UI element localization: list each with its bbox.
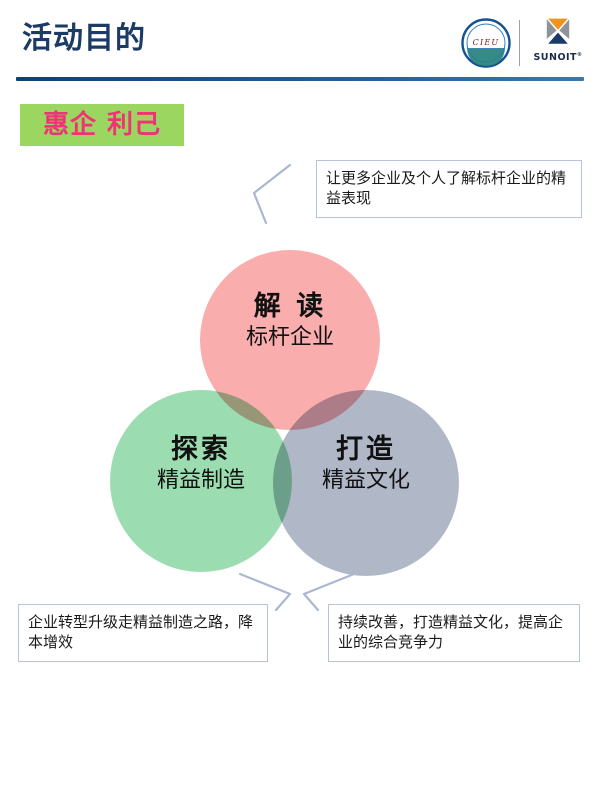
venn-diagram: 解 读 标杆企业 探索 精益制造 打造 精益文化 <box>105 250 465 590</box>
sunoit-wordmark: SUNOIT® <box>533 52 582 63</box>
trademark-symbol: ® <box>577 52 583 58</box>
svg-text:CIEU: CIEU <box>473 38 500 47</box>
sunoit-logo: SUNOIT® <box>528 17 588 69</box>
header-divider-rule <box>16 77 584 81</box>
callout-bottom-right: 持续改善，打造精益文化，提高企业的综合竞争力 <box>328 604 580 662</box>
venn-label-build-main: 打造 <box>280 435 452 464</box>
connector-top-chevron-icon <box>248 163 294 225</box>
venn-label-explore: 探索 精益制造 <box>115 435 287 493</box>
venn-label-interpret-main: 解 读 <box>210 292 370 321</box>
venn-label-interpret-sub: 标杆企业 <box>210 326 370 350</box>
slide-header: 活动目的 CIEU <box>0 0 600 86</box>
sunoit-wordmark-text: SUNOIT <box>533 52 577 63</box>
sunoit-hexagon-icon <box>537 17 579 51</box>
page-title: 活动目的 <box>22 24 146 54</box>
venn-label-explore-sub: 精益制造 <box>115 469 287 493</box>
highlight-tag-label: 惠企 利己 <box>43 112 161 138</box>
venn-label-explore-main: 探索 <box>115 435 287 464</box>
cieu-seal-logo: CIEU <box>461 18 511 68</box>
logo-divider <box>519 20 520 66</box>
callout-bottom-left: 企业转型升级走精益制造之路，降本增效 <box>18 604 268 662</box>
callout-top: 让更多企业及个人了解标杆企业的精益表现 <box>316 160 582 218</box>
venn-label-interpret: 解 读 标杆企业 <box>210 292 370 350</box>
highlight-tag: 惠企 利己 <box>20 104 184 146</box>
logo-group: CIEU SUNOIT® <box>461 14 588 72</box>
venn-label-build: 打造 精益文化 <box>280 435 452 493</box>
venn-label-build-sub: 精益文化 <box>280 469 452 493</box>
